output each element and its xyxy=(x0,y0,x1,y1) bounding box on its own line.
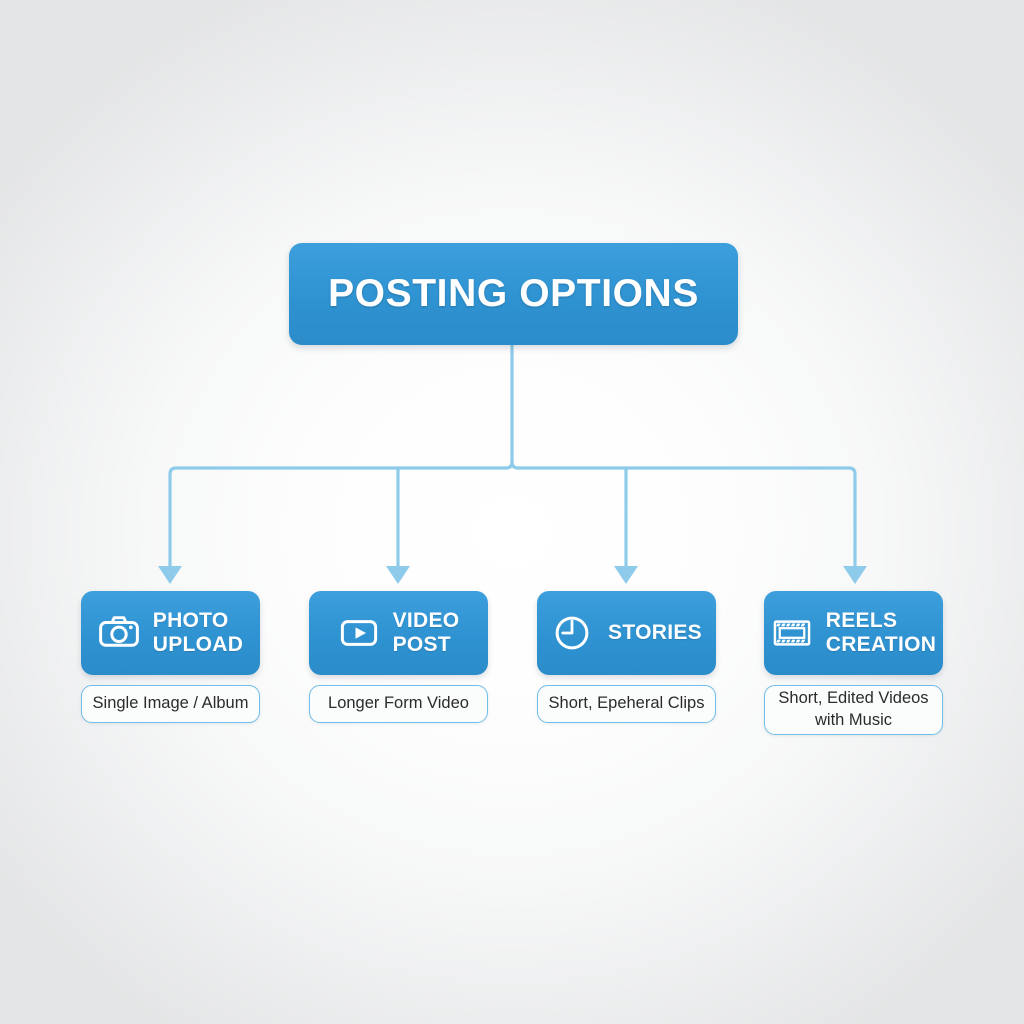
node-video-post-description: Longer Form Video xyxy=(309,685,488,723)
node-photo-upload-header[interactable]: PHOTO UPLOAD xyxy=(81,591,260,675)
node-stories-description: Short, Epeheral Clips xyxy=(537,685,716,723)
node-photo-upload-description: Single Image / Album xyxy=(81,685,260,723)
node-reels-creation[interactable]: REELS CREATION Short, Edited Videos with… xyxy=(764,591,943,735)
node-reels-creation-header[interactable]: REELS CREATION xyxy=(764,591,943,675)
node-stories-header[interactable]: STORIES xyxy=(537,591,716,675)
node-reels-creation-description: Short, Edited Videos with Music xyxy=(764,685,943,735)
connector-bus-left xyxy=(170,462,512,568)
node-reels-creation-label-line1: REELS xyxy=(826,609,937,633)
camera-icon xyxy=(98,612,140,654)
connector-bus-right xyxy=(512,462,855,568)
node-stories[interactable]: STORIES Short, Epeheral Clips xyxy=(537,591,716,723)
node-stories-label-line1: STORIES xyxy=(608,621,702,645)
node-reels-creation-label: REELS CREATION xyxy=(826,609,937,656)
play-video-icon xyxy=(338,612,380,654)
node-photo-upload-label-line2: UPLOAD xyxy=(153,633,243,657)
diagram-canvas: POSTING OPTIONS PHOTO UPLOAD Single Imag… xyxy=(0,0,1024,1024)
node-photo-upload-label: PHOTO UPLOAD xyxy=(153,609,243,656)
node-video-post[interactable]: VIDEO POST Longer Form Video xyxy=(309,591,488,723)
film-strip-icon xyxy=(771,612,813,654)
node-video-post-label: VIDEO POST xyxy=(393,609,460,656)
arrowhead-1 xyxy=(386,566,410,584)
root-node[interactable]: POSTING OPTIONS xyxy=(289,243,738,345)
node-video-post-label-line2: POST xyxy=(393,633,460,657)
connector-lines xyxy=(0,0,1024,1024)
node-photo-upload-label-line1: PHOTO xyxy=(153,609,243,633)
clock-icon xyxy=(551,612,593,654)
node-video-post-label-line1: VIDEO xyxy=(393,609,460,633)
arrowhead-2 xyxy=(614,566,638,584)
node-stories-label: STORIES xyxy=(608,621,702,645)
arrowhead-3 xyxy=(843,566,867,584)
node-video-post-header[interactable]: VIDEO POST xyxy=(309,591,488,675)
node-photo-upload[interactable]: PHOTO UPLOAD Single Image / Album xyxy=(81,591,260,723)
page-title: POSTING OPTIONS xyxy=(328,272,699,316)
node-reels-creation-label-line2: CREATION xyxy=(826,633,937,657)
arrowhead-0 xyxy=(158,566,182,584)
